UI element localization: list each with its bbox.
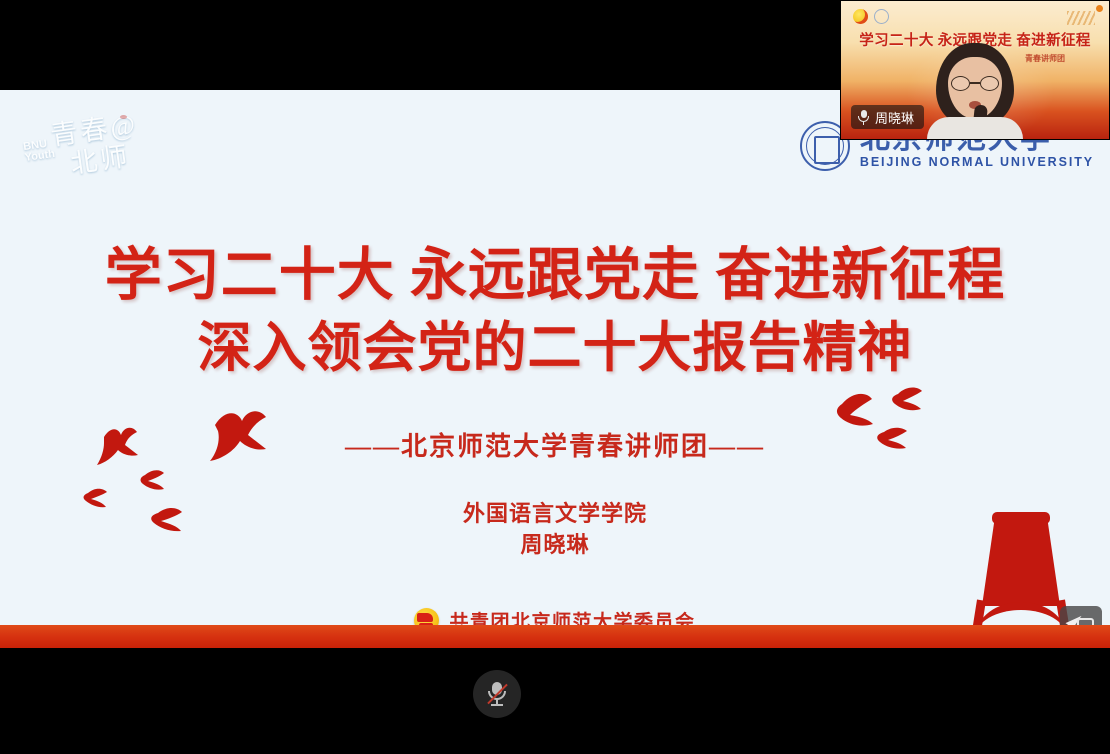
participant-webcam-figure [923,43,1027,140]
meeting-screen: 青春@ 北师 BNUYouth 北京师范大学 BEIJING NORMAL UN… [0,0,1110,754]
watermark-cn-line2: 北师 [68,134,133,181]
slide-title-line1: 学习二十大 永远跟党走 奋进新征程 [0,240,1110,312]
slide-title-line2: 深入领会党的二十大报告精神 [0,312,1110,384]
league-emblem-icon-small [853,9,868,24]
slide-title-block: 学习二十大 永远跟党走 奋进新征程 深入领会党的二十大报告精神 [0,240,1110,384]
self-video-slide-subtitle: 青春讲师团 [1025,53,1065,64]
participant-name-chip: 周晓琳 [851,105,924,129]
presenter-department: 外国语言文学学院 [0,498,1110,529]
participant-name: 周晓琳 [875,108,914,127]
bnu-seal-icon-small [874,9,889,24]
recording-indicator-dot [1096,5,1103,12]
slide-bottom-band [0,625,1110,648]
self-video-thumbnail[interactable]: 学习二十大 永远跟党走 奋进新征程 青春讲师团 周晓琳 [840,0,1110,140]
microphone-icon [858,110,869,125]
figure-body [927,117,1023,140]
presenter-block: 外国语言文学学院 周晓琳 [0,498,1110,560]
meeting-control-bar [0,648,1110,754]
decorative-corner-mark [1067,11,1095,25]
slide-subtitle: ——北京师范大学青春讲师团—— [0,426,1110,463]
microphone-muted-icon [487,682,507,706]
presenter-name: 周晓琳 [0,529,1110,560]
mute-microphone-button[interactable] [473,670,521,718]
bnu-logo-en: BEIJING NORMAL UNIVERSITY [860,155,1094,169]
shared-slide-stage[interactable]: 青春@ 北师 BNUYouth 北京师范大学 BEIJING NORMAL UN… [0,90,1110,648]
watermark-en-label: BNUYouth [23,138,56,164]
figure-glasses-icon [951,76,999,91]
bnu-youth-watermark: 青春@ 北师 BNUYouth [24,106,170,180]
